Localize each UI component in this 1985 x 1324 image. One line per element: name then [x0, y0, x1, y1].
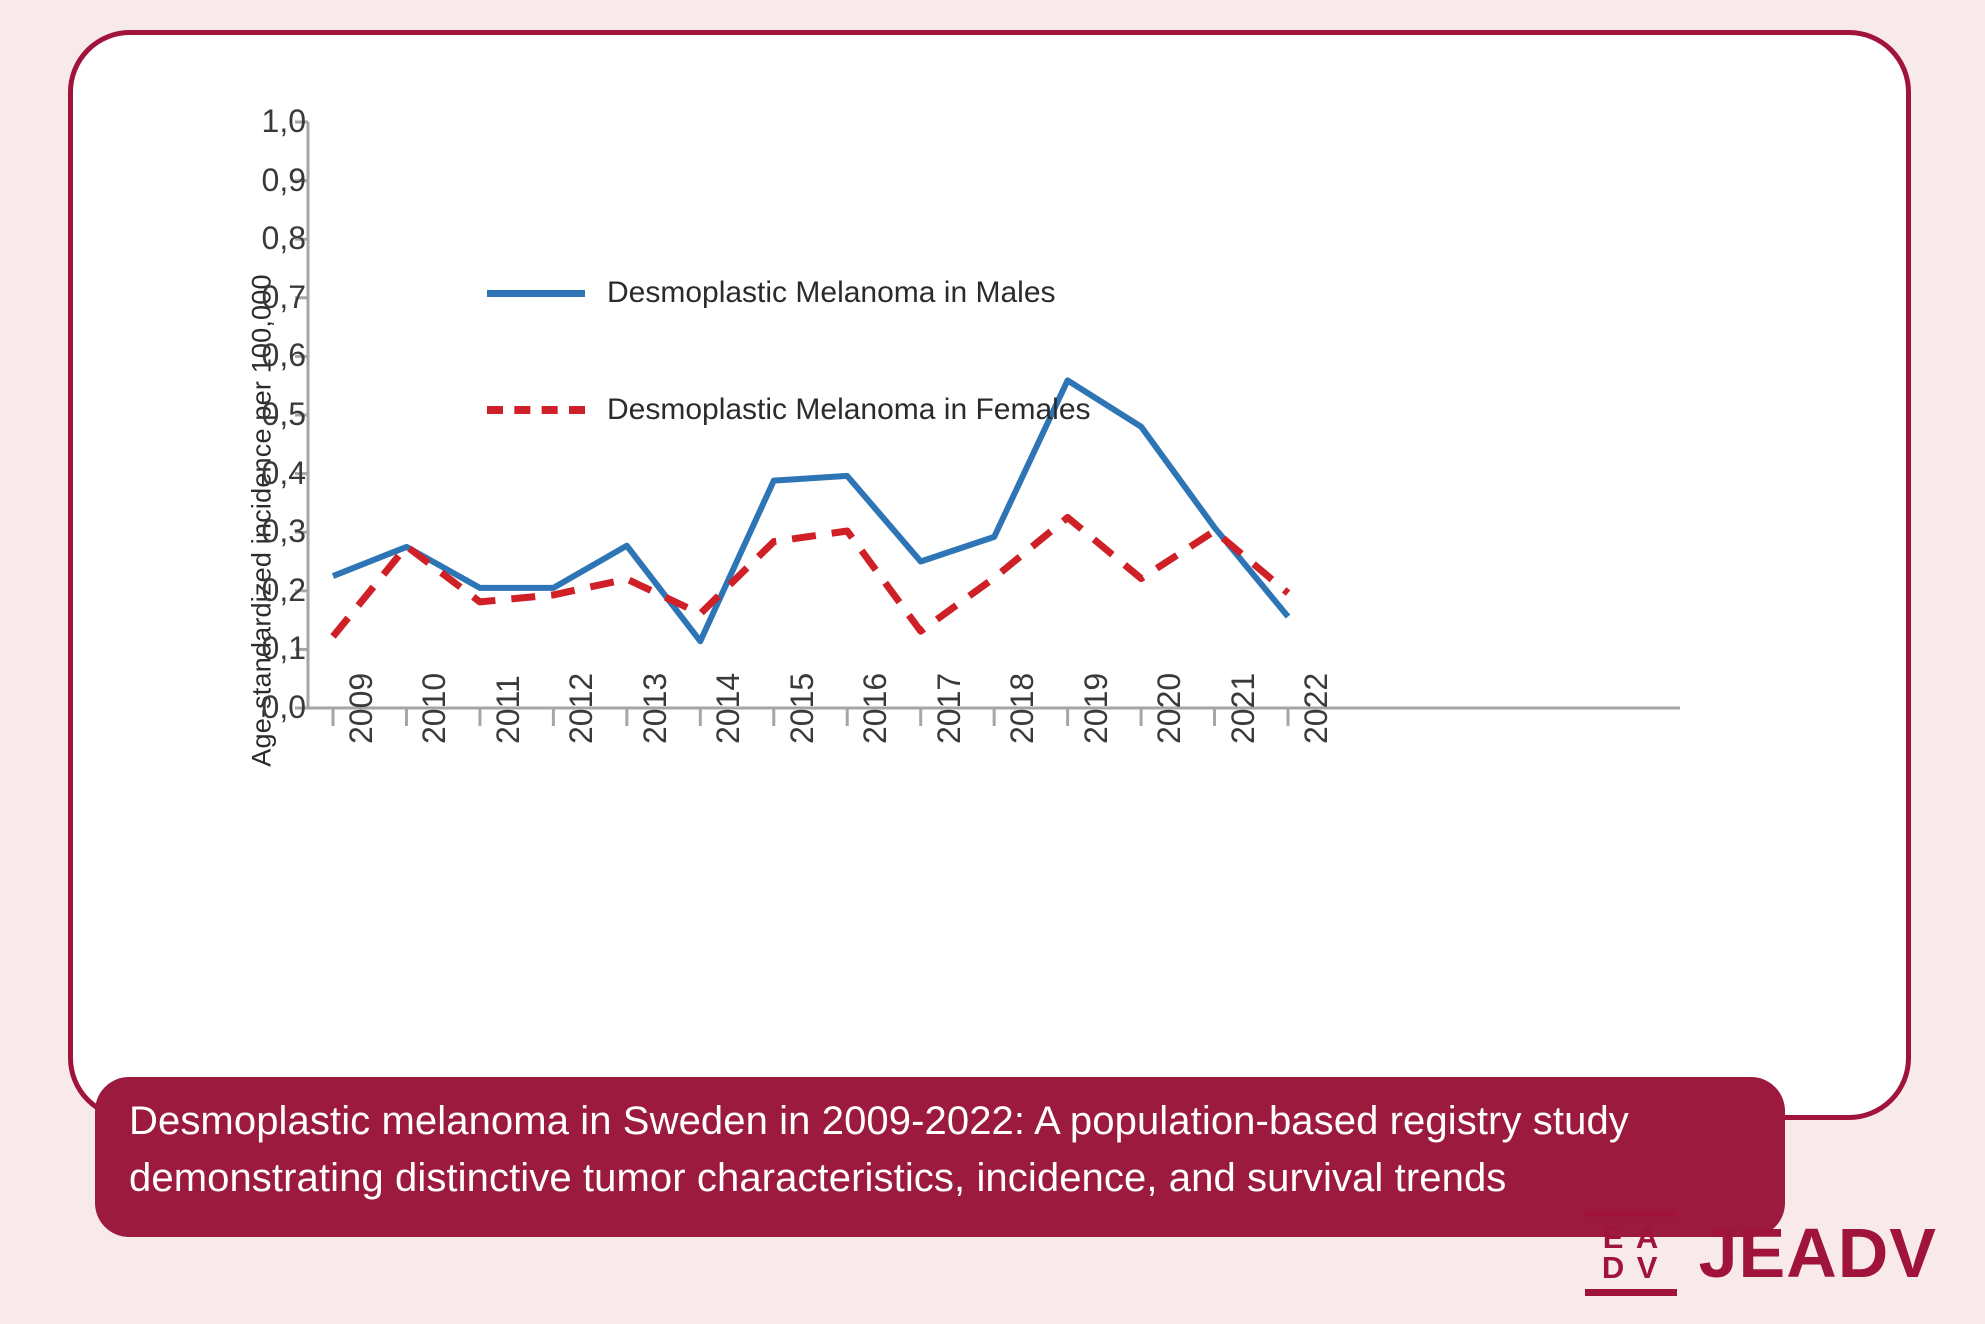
eadv-logo-row-1: EA	[1597, 1223, 1665, 1253]
eadv-letter-e: E	[1597, 1223, 1631, 1253]
legend-label: Desmoplastic Melanoma in Females	[607, 393, 1091, 427]
title-banner: Desmoplastic melanoma in Sweden in 2009-…	[95, 1077, 1785, 1237]
legend-swatch-icon	[487, 406, 585, 414]
eadv-letter-v: V	[1631, 1253, 1665, 1283]
eadv-letter-d: D	[1597, 1253, 1631, 1283]
banner-title-line-1: Desmoplastic melanoma in Sweden in 2009-…	[129, 1093, 1751, 1150]
chart-figure: Age-standardized incidence per 100,000 1…	[0, 0, 1985, 1030]
jeadv-wordmark: JEADV	[1699, 1218, 1937, 1288]
legend-item-males[interactable]: Desmoplastic Melanoma in Males	[487, 276, 1056, 310]
eadv-logo-row-2: DV	[1597, 1253, 1665, 1283]
legend-label: Desmoplastic Melanoma in Males	[607, 276, 1056, 310]
legend-swatch-icon	[487, 290, 585, 297]
jeadv-logo: EA DV JEADV	[1585, 1210, 1937, 1296]
eadv-logo-icon: EA DV	[1585, 1210, 1677, 1296]
legend-item-females[interactable]: Desmoplastic Melanoma in Females	[487, 393, 1091, 427]
eadv-letter-a: A	[1631, 1223, 1665, 1253]
banner-title-line-2: demonstrating distinctive tumor characte…	[129, 1150, 1751, 1207]
chart-legend: Desmoplastic Melanoma in MalesDesmoplast…	[0, 0, 1985, 1030]
